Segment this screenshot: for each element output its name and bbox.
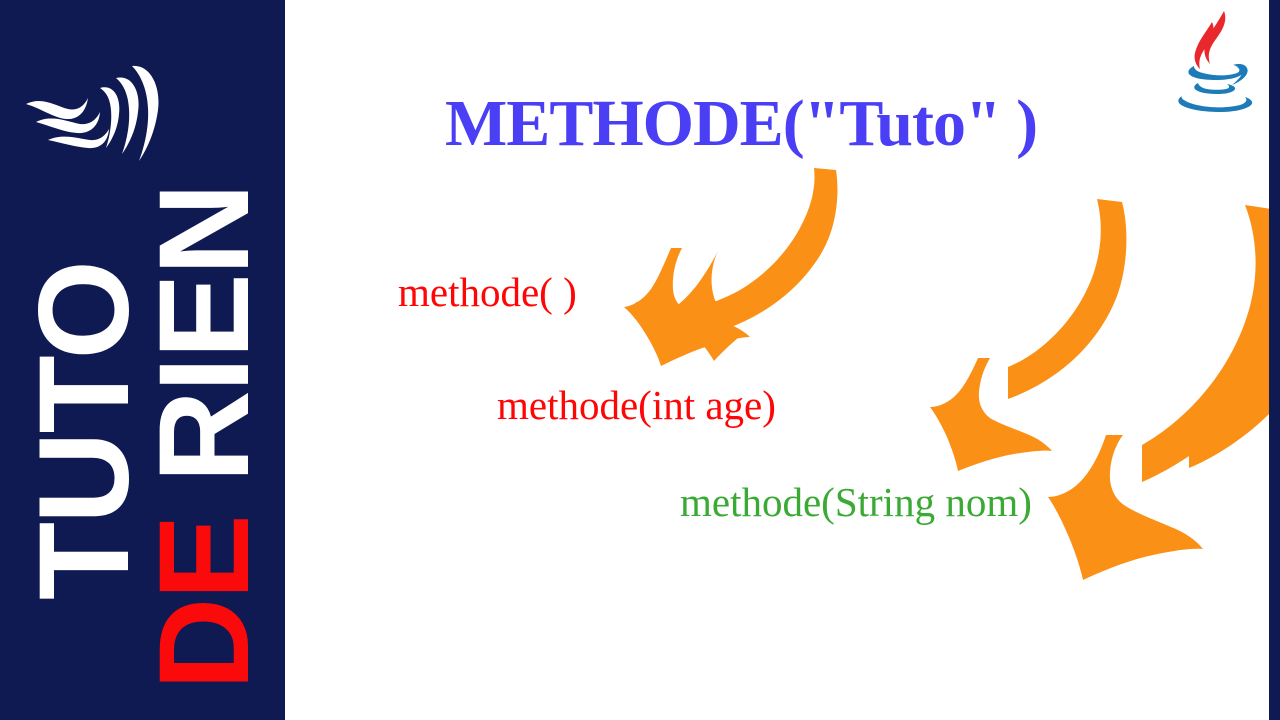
signature-methode-string-nom: methode(String nom) xyxy=(680,478,1032,526)
sidebar-word-de-rien: DE RIEN xyxy=(150,185,260,690)
right-edge-strip xyxy=(1269,0,1280,720)
java-coffee-cup-icon xyxy=(1172,6,1264,118)
page-title: METHODE("Tuto" ) xyxy=(445,86,1037,162)
slide-canvas: METHODE("Tuto" ) methode( ) methode(int … xyxy=(285,0,1269,720)
brand-sidebar: TUTO DE RIEN xyxy=(0,0,285,720)
arrow-to-methode-string xyxy=(1048,200,1269,580)
signature-methode-int-age: methode(int age) xyxy=(497,381,776,429)
sidebar-word-de: DE xyxy=(133,516,276,690)
arrow-to-methode-int xyxy=(930,199,1126,471)
sidebar-word-rien: RIEN xyxy=(133,185,276,516)
broadcast-wave-icon xyxy=(22,52,172,167)
signature-methode-empty: methode( ) xyxy=(398,268,577,316)
arrow-to-methode-empty xyxy=(624,168,837,366)
sidebar-word-tuto: TUTO xyxy=(30,262,140,600)
slide-root: TUTO DE RIEN METHODE("Tuto" ) methode( )… xyxy=(0,0,1280,720)
